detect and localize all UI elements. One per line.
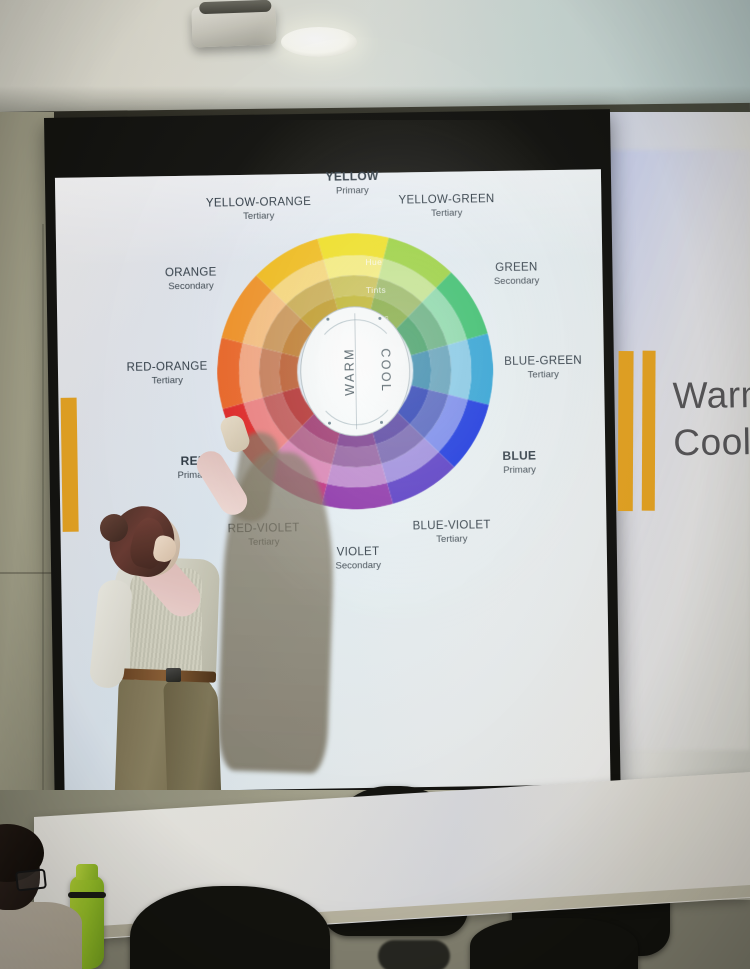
wheel-label-blue-green: BLUE-GREENTertiary	[488, 353, 598, 382]
wheel-label-yellow-orange: YELLOW-ORANGETertiary	[203, 195, 313, 224]
ring-label-hue: Hue	[365, 257, 382, 267]
wheel-label-orange: ORANGESecondary	[136, 265, 246, 294]
headline-line-1: Warm	[672, 369, 750, 419]
wheel-label-role: Secondary	[462, 275, 572, 289]
wheel-label-name: GREEN	[461, 260, 571, 277]
headline-line-2: Cool	[673, 417, 750, 467]
wheel-label-name: RED	[139, 453, 249, 470]
center-dot-left	[326, 318, 329, 321]
presenter	[88, 500, 288, 840]
wheel-label-role: Tertiary	[204, 210, 314, 224]
wall-seam	[0, 572, 54, 574]
wheel-label-role: Tertiary	[397, 533, 507, 547]
presenter-hair-bun	[100, 514, 128, 542]
center-label-cool: COOL	[378, 348, 393, 393]
center-label-warm: WARM	[342, 347, 357, 396]
wheel-label-role: Primary	[464, 463, 574, 477]
wheel-label-name: BLUE	[464, 448, 574, 465]
center-dot-right	[378, 317, 381, 320]
attendee-body	[0, 902, 82, 969]
wheel-label-blue: BLUEPrimary	[464, 448, 574, 478]
wheel-label-name: ORANGE	[136, 265, 246, 282]
slide-headline: Warm Cool	[672, 369, 750, 467]
ring-label-tints: Tints	[366, 285, 386, 295]
wheel-label-role: Secondary	[136, 280, 246, 294]
accent-bar-right-1	[618, 351, 634, 511]
chair	[470, 918, 638, 969]
wheel-label-role: Tertiary	[112, 374, 222, 388]
presenter-belt-buckle	[166, 668, 181, 682]
center-dot-br	[380, 421, 383, 424]
glasses-icon	[15, 868, 47, 891]
wheel-label-role: Tertiary	[488, 368, 598, 382]
wheel-label-green: GREENSecondary	[461, 260, 571, 289]
wheel-label-name: RED-ORANGE	[112, 359, 222, 376]
wheel-label-name: YELLOW-ORANGE	[203, 195, 313, 212]
chair	[130, 886, 330, 969]
wheel-label-yellow-green: YELLOW-GREENTertiary	[391, 192, 501, 221]
wheel-label-red-orange: RED-ORANGETertiary	[112, 359, 222, 388]
wheel-label-name: BLUE-VIOLET	[397, 518, 507, 535]
seated-attendee	[0, 836, 86, 969]
accent-bar-right-2	[642, 351, 656, 511]
wheel-label-name: BLUE-GREEN	[488, 353, 598, 370]
wheel-label-name: YELLOW	[297, 168, 407, 185]
wheel-label-role: Tertiary	[392, 207, 502, 221]
ceiling-light-icon	[281, 27, 357, 57]
wheel-label-name: YELLOW-GREEN	[391, 192, 501, 209]
classroom-photo: Warm Cool Hue Tints Tones Shades WARM CO…	[0, 0, 750, 969]
ceiling-projector-icon	[191, 5, 276, 48]
center-dot-bl	[328, 422, 331, 425]
chair-armrest	[378, 940, 450, 969]
wheel-label-blue-violet: BLUE-VIOLETTertiary	[397, 518, 507, 547]
accent-bar-left	[61, 398, 79, 532]
